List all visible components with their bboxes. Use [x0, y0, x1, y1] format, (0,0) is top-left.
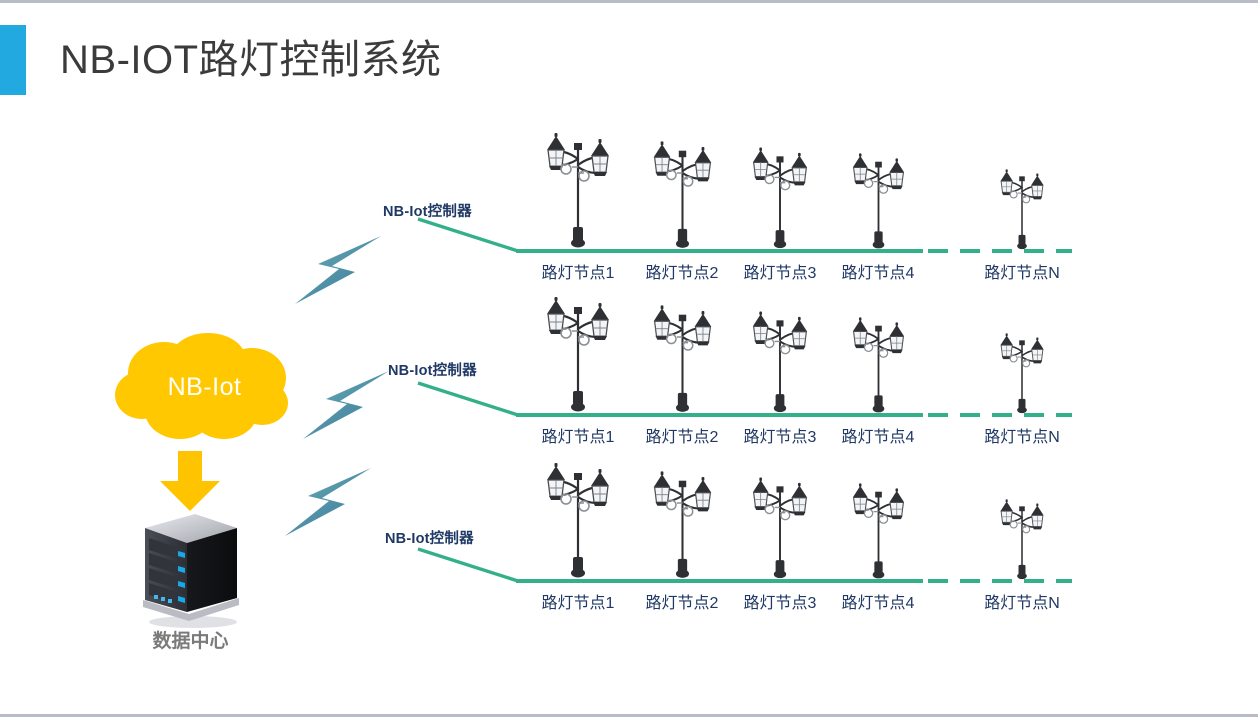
- street-lamp-icon: [736, 467, 824, 588]
- slide-canvas: NB-IOT路灯控制系统 NB-Iot: [0, 0, 1258, 717]
- street-lamp-icon: [528, 451, 628, 588]
- node-label: 路灯节点4: [818, 589, 938, 613]
- street-lamp-icon: [837, 473, 920, 588]
- node-label: 路灯节点1: [518, 589, 638, 613]
- street-lamp-icon: [987, 491, 1057, 588]
- lightning-bolt-icon: [282, 463, 374, 541]
- controller-row: NB-Iot控制器: [0, 3, 1258, 717]
- street-lamp-icon: [636, 460, 729, 588]
- node-label: 路灯节点N: [962, 589, 1082, 613]
